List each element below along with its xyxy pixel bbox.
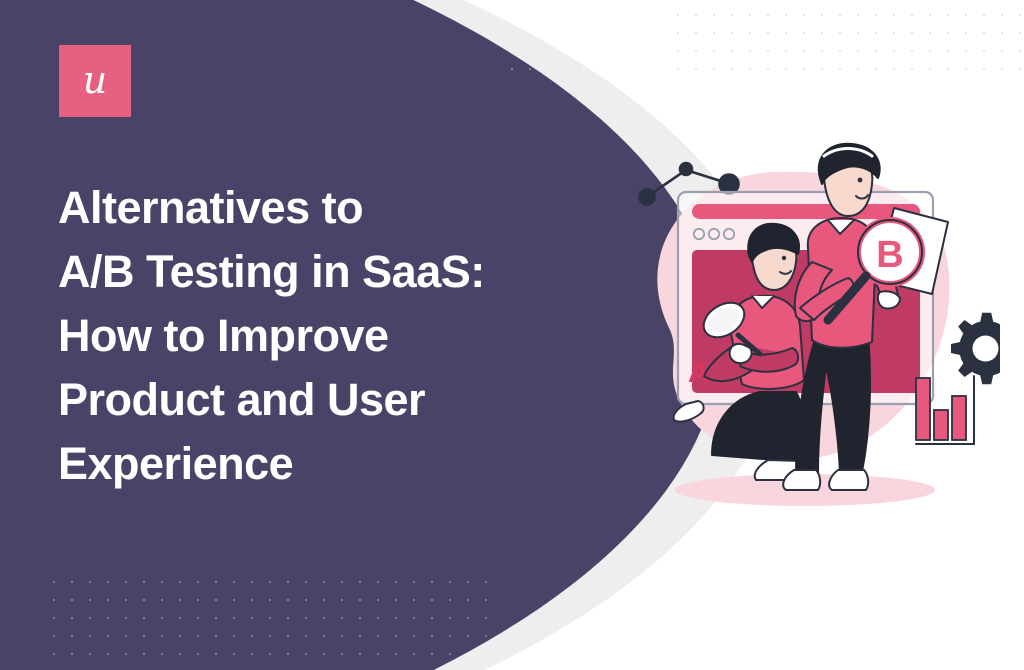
ab-testing-illustration: A [600,130,1000,530]
userpilot-logo[interactable]: u [59,45,131,117]
title-line-4: Product and User [58,368,558,432]
title-line-2: A/B Testing in SaaS: [58,240,558,304]
cover-canvas: u Alternatives to A/B Testing in SaaS: H… [0,0,1024,670]
browser-urlbar [692,204,920,219]
variant-b-label: B [876,234,903,276]
title-line-1: Alternatives to [58,176,558,240]
logo-glyph: u [83,61,107,99]
bar-chart-icon [916,376,974,444]
title-line-5: Experience [58,432,558,496]
gear-icon [951,313,1000,384]
page-title: Alternatives to A/B Testing in SaaS: How… [58,176,558,496]
title-line-3: How to Improve [58,304,558,368]
